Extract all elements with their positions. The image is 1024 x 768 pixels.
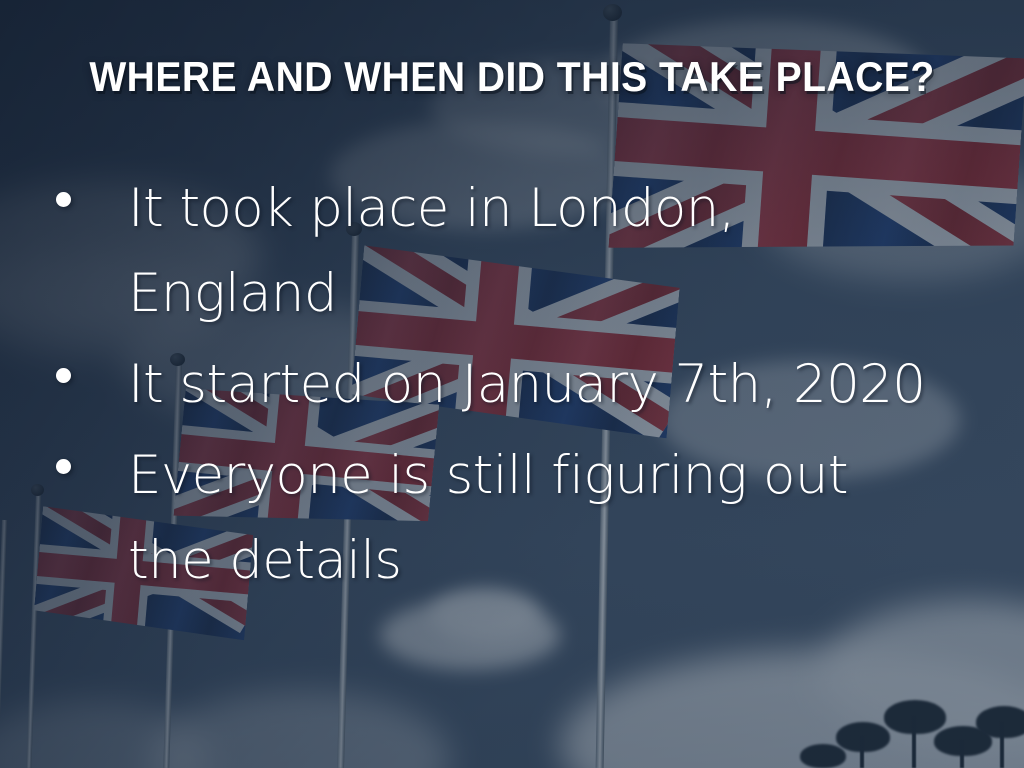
list-item-label: It started on January 7th, 2020 [71, 342, 936, 427]
list-item-label: It took place in London, England [71, 166, 936, 336]
bullet-dot-icon [56, 459, 71, 474]
slide-content: WHERE AND WHEN DID THIS TAKE PLACE? It t… [0, 0, 1024, 768]
list-item: It started on January 7th, 2020 [56, 342, 936, 427]
slide-title: WHERE AND WHEN DID THIS TAKE PLACE? [36, 53, 988, 101]
presentation-slide: WHERE AND WHEN DID THIS TAKE PLACE? It t… [0, 0, 1024, 768]
list-item: Everyone is still figuring out the detai… [56, 433, 936, 603]
list-item: It took place in London, England [56, 166, 936, 336]
list-item-label: Everyone is still figuring out the detai… [71, 433, 936, 603]
bullet-dot-icon [56, 192, 71, 207]
bullet-list: It took place in London, England It star… [56, 166, 936, 609]
bullet-dot-icon [56, 368, 71, 383]
